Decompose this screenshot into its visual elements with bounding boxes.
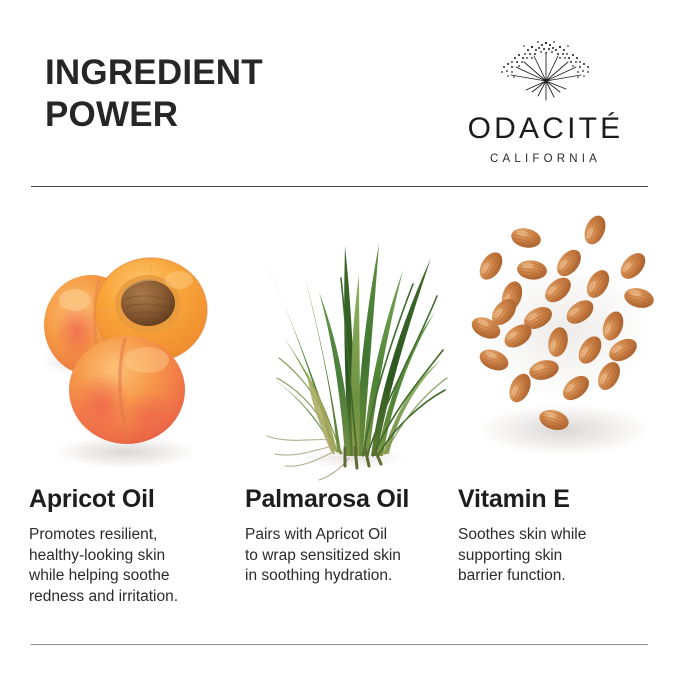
almonds-photo — [458, 200, 671, 485]
ingredient-card-vitamin-e: Vitamin E Soothes skin while supporting … — [458, 200, 671, 587]
apricot-fruit-photo — [29, 200, 242, 485]
apricot-whole-front — [69, 336, 185, 444]
divider-top — [31, 186, 648, 187]
ingredient-description: Pairs with Apricot Oil to wrap sensitize… — [245, 525, 445, 587]
ingredient-description: Promotes resilient, healthy-looking skin… — [29, 525, 234, 607]
palmarosa-grass-photo — [245, 200, 458, 485]
divider-bottom — [31, 644, 648, 645]
page-title: INGREDIENT POWER — [45, 52, 375, 136]
brand-wordmark: ODACITÉ — [443, 112, 648, 146]
ingredient-columns: Apricot Oil Promotes resilient, healthy-… — [0, 200, 679, 640]
ingredient-name: Apricot Oil — [29, 485, 242, 513]
brand-tagline: CALIFORNIA — [443, 153, 648, 166]
brand-logo: ODACITÉ CALIFORNIA — [443, 34, 648, 166]
ingredient-card-palmarosa-oil: Palmarosa Oil Pairs with Apricot Oil to … — [245, 200, 458, 587]
umbel-floret-dots — [501, 41, 589, 78]
umbel-flower-icon — [494, 34, 598, 106]
grass-blades — [265, 244, 447, 480]
ingredient-card-apricot-oil: Apricot Oil Promotes resilient, healthy-… — [29, 200, 242, 607]
ingredient-power-infographic: INGREDIENT POWER — [0, 0, 679, 679]
ingredient-name: Vitamin E — [458, 485, 671, 513]
ingredient-description: Soothes skin while supporting skin barri… — [458, 525, 648, 587]
ingredient-name: Palmarosa Oil — [245, 485, 458, 513]
header: INGREDIENT POWER — [0, 0, 679, 186]
